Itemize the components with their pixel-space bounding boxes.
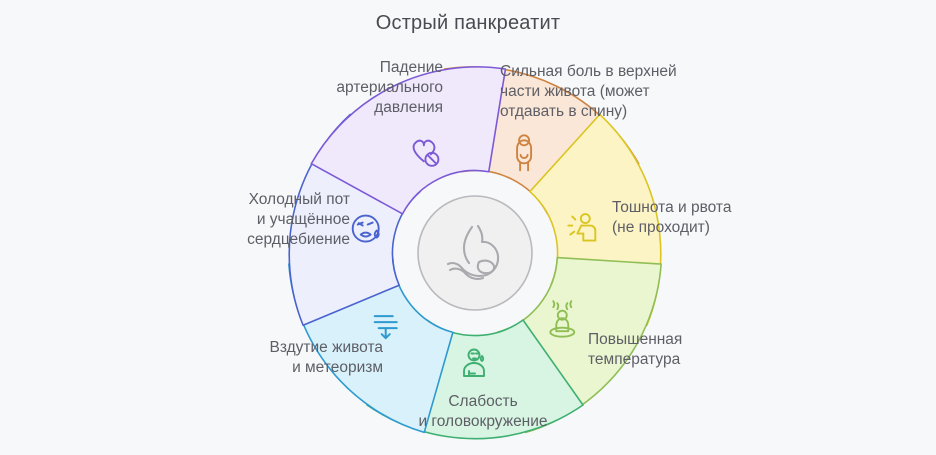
segment-label-weakness: Слабость и головокружение xyxy=(368,392,598,432)
infographic-canvas: Острый панкреатит xyxy=(0,0,936,455)
segment-label-sweating: Холодный пот и учащённое сердцебиение xyxy=(160,190,350,250)
segment-label-fever: Повышенная температура xyxy=(588,330,803,370)
segment-label-pain: Сильная боль в верхней части живота (мож… xyxy=(500,62,785,122)
segment-label-bloating: Вздутие живота и метеоризм xyxy=(168,338,383,378)
segment-label-nausea: Тошнота и рвота (не проходит) xyxy=(612,198,832,238)
segment-label-pressure-drop: Падение артериального давления xyxy=(238,58,443,118)
center-node xyxy=(418,196,532,310)
